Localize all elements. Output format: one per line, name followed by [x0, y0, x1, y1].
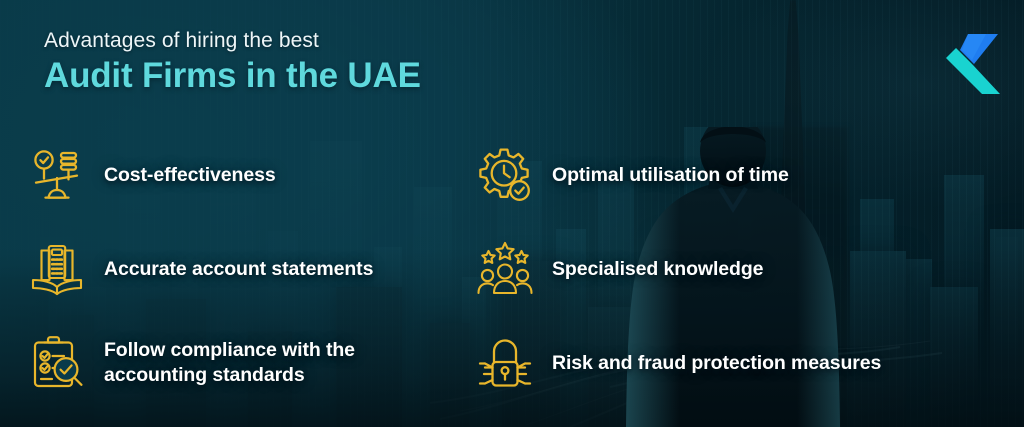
benefit-item-cost-effectiveness: Cost-effectiveness: [28, 128, 468, 222]
benefit-item-optimal-time: Optimal utilisation of time: [476, 128, 976, 222]
page-heading: Advantages of hiring the best Audit Firm…: [44, 28, 421, 97]
benefit-label: Accurate account statements: [104, 257, 373, 282]
clipboard-checklist-magnifier-icon: [28, 334, 86, 392]
benefit-label: Risk and fraud protection measures: [552, 351, 881, 376]
gear-clock-check-icon: [476, 146, 534, 204]
benefit-label: Follow compliance with the accounting st…: [104, 338, 355, 387]
heading-kicker: Advantages of hiring the best: [44, 28, 421, 54]
balance-scale-coins-icon: [28, 146, 86, 204]
heading-title: Audit Firms in the UAE: [44, 55, 421, 97]
benefit-item-follow-compliance: Follow compliance with the accounting st…: [28, 316, 468, 410]
calculator-book-icon: [28, 240, 86, 298]
benefit-item-specialised-knowledge: Specialised knowledge: [476, 222, 976, 316]
padlock-bug-security-icon: [476, 334, 534, 392]
benefit-label: Cost-effectiveness: [104, 163, 276, 188]
infographic-banner: Advantages of hiring the best Audit Firm…: [0, 0, 1024, 427]
benefit-label: Specialised knowledge: [552, 257, 763, 282]
benefit-label: Optimal utilisation of time: [552, 163, 789, 188]
benefit-item-accurate-statements: Accurate account statements: [28, 222, 468, 316]
brand-logo-k-mark[interactable]: [942, 26, 1002, 100]
benefit-item-risk-fraud-protection: Risk and fraud protection measures: [476, 316, 976, 410]
benefits-grid: Cost-effectiveness Optimal utilisation o…: [28, 128, 996, 410]
team-stars-rating-icon: [476, 240, 534, 298]
